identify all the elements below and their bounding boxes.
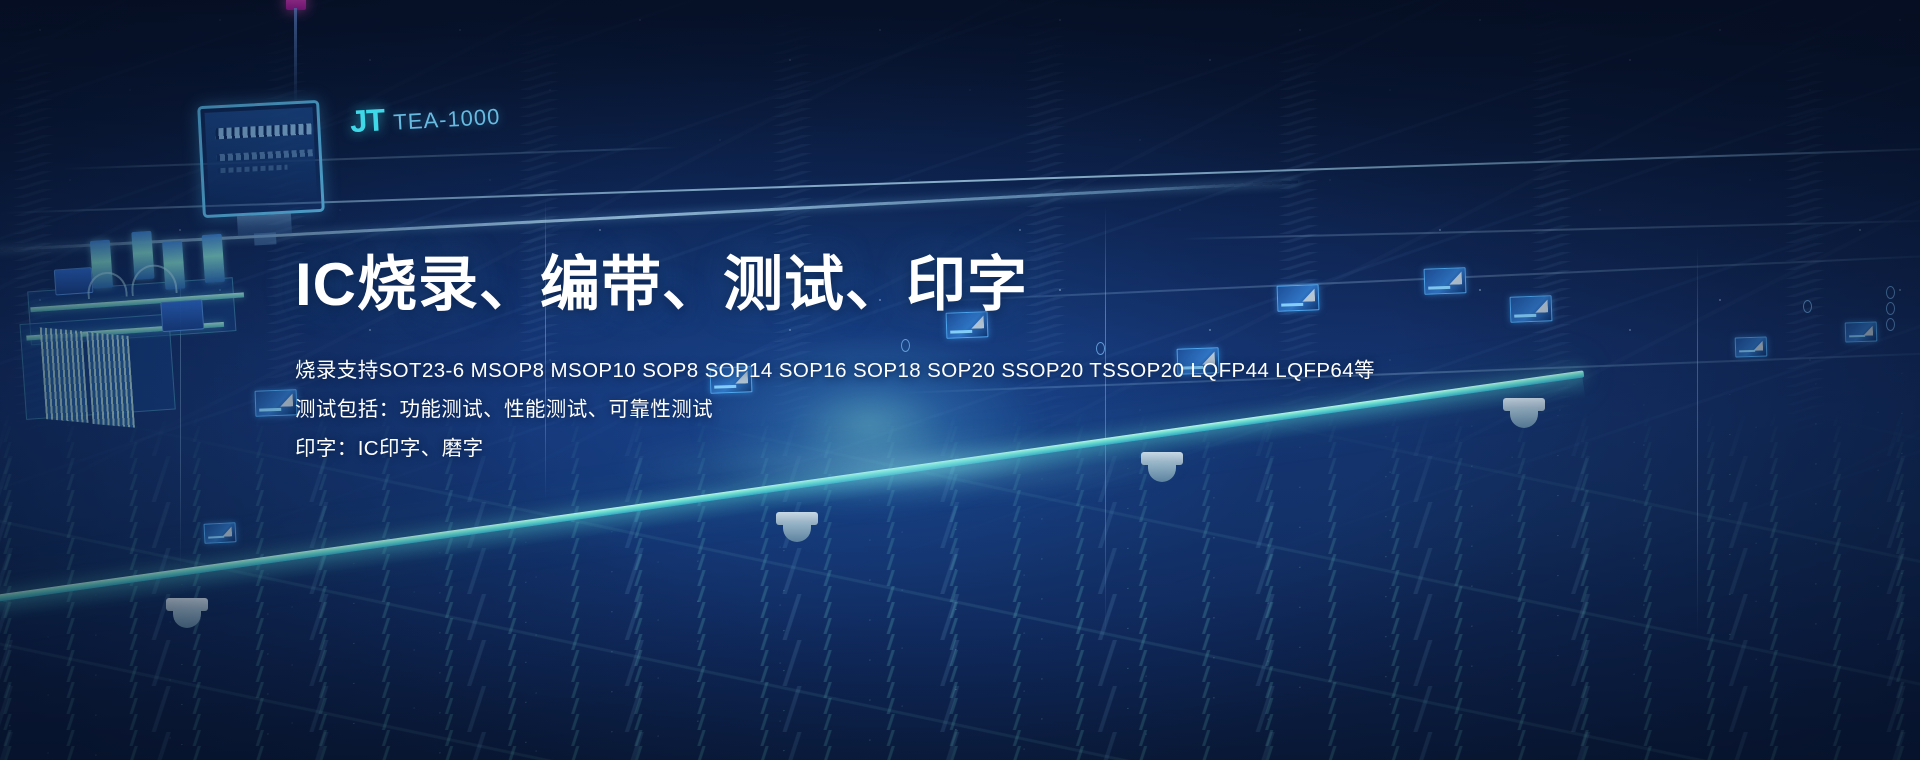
indicator-ring-1	[1886, 286, 1895, 299]
caster-wheel-1	[160, 598, 214, 628]
beacon-post	[294, 8, 297, 104]
shelf-line-far	[1180, 219, 1920, 240]
monitor-screen	[205, 107, 318, 204]
brand-mark: JT TEA-1000	[349, 96, 501, 140]
brand-logo-text: JT	[349, 102, 385, 140]
screen-row-2	[217, 149, 313, 161]
service-line-testing: 测试包括：功能测试、性能测试、可靠性测试	[295, 390, 1595, 429]
handler-machinery	[9, 220, 262, 436]
page-title: IC烧录、编带、测试、印字	[295, 250, 1595, 321]
pneumatic-cylinder-4	[202, 234, 225, 283]
banner-text-block: IC烧录、编带、测试、印字 烧录支持SOT23-6 MSOP8 MSOP10 S…	[295, 250, 1595, 468]
brand-model-text: TEA-1000	[393, 104, 501, 136]
indicator-ring-2	[1886, 302, 1895, 315]
blue-module-2	[160, 299, 204, 332]
shelf-line-back	[60, 146, 680, 170]
service-detail-list: 烧录支持SOT23-6 MSOP8 MSOP10 SOP8 SOP14 SOP1…	[295, 351, 1595, 468]
indicator-ring-4	[1803, 300, 1812, 313]
fin-stack-1	[40, 327, 89, 422]
ic-service-hero-banner: JT TEA-1000 IC烧录、编带、测试、印字 烧录支持SOT23-6 MS…	[0, 0, 1920, 760]
screen-row-1	[215, 123, 311, 139]
service-line-programming: 烧录支持SOT23-6 MSOP8 MSOP10 SOP8 SOP14 SOP1…	[295, 351, 1595, 390]
service-line-marking: 印字：IC印字、磨字	[295, 429, 1595, 468]
monitor-neck	[254, 232, 277, 245]
screen-row-3	[217, 165, 287, 174]
crt-monitor	[197, 100, 325, 218]
